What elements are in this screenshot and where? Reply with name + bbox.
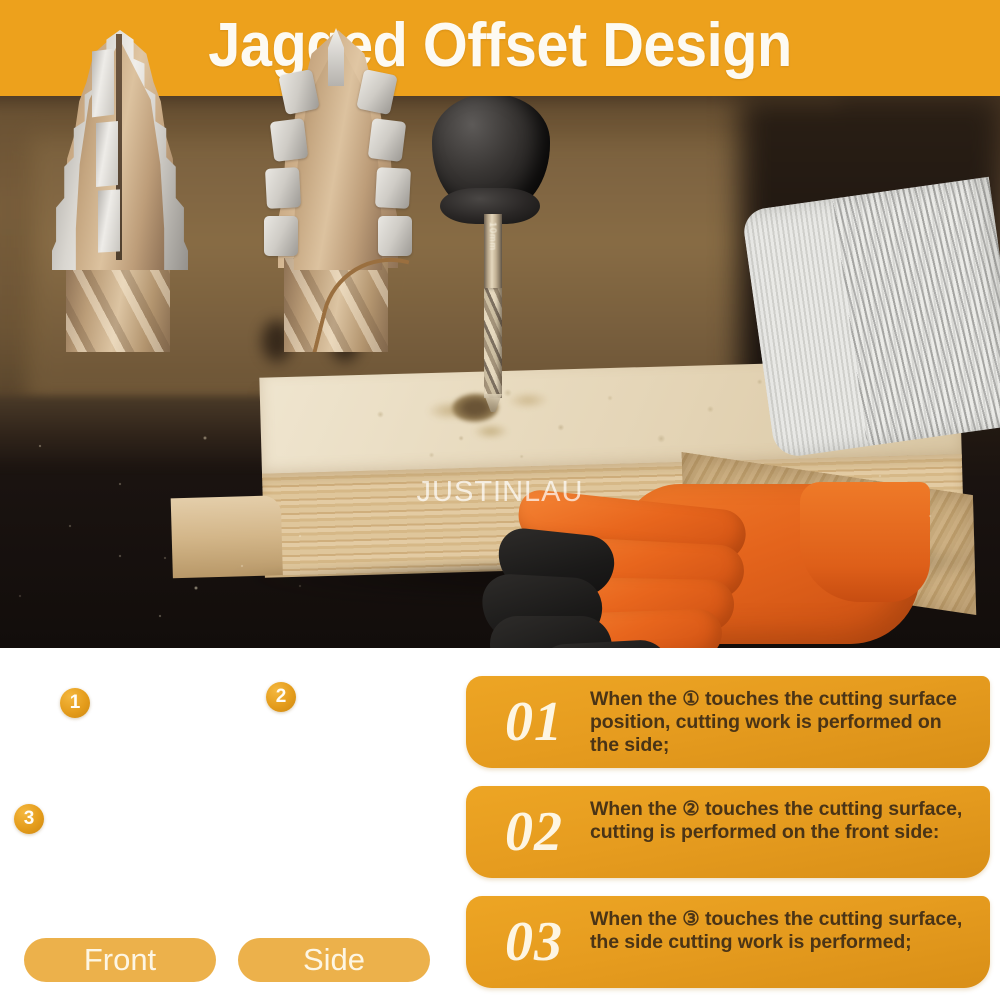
step-description: When the ① touches the cutting surface p…: [590, 688, 974, 757]
step-number: 02: [482, 794, 586, 870]
side-tooth: [270, 118, 309, 162]
wood-block-left-edge: [171, 495, 283, 578]
side-tooth: [278, 69, 320, 115]
step-panel-01: 01 When the ① touches the cutting surfac…: [466, 676, 990, 768]
side-tooth: [378, 216, 412, 256]
diagram-side-view: [228, 14, 448, 352]
badge-3: 3: [14, 804, 44, 834]
step-number: 03: [482, 904, 586, 980]
step-description: When the ② touches the cutting surface, …: [590, 798, 974, 844]
side-tooth: [356, 69, 398, 115]
badge-2: 2: [266, 682, 296, 712]
side-tooth: [265, 167, 301, 209]
bit-shank-spiral-front: [66, 258, 170, 352]
product-infographic: Jagged Offset Design: [0, 0, 1000, 1000]
carbide-cutting-edge: [96, 121, 118, 187]
glove-cuff: [741, 175, 1000, 469]
drill-bit-head-side: [262, 30, 414, 276]
drill-assembly: 10mm: [432, 96, 552, 406]
drill-bit-size-marking: 10mm: [487, 222, 499, 278]
step-description: When the ③ touches the cutting surface, …: [590, 908, 974, 954]
drill-bit-head-front: [44, 30, 196, 276]
work-glove: [500, 492, 920, 648]
diagram-front-view: [10, 14, 230, 352]
glove-wrist: [800, 482, 930, 602]
badge-1: 1: [60, 688, 90, 718]
drill-bit-flute: [484, 288, 502, 398]
side-tooth: [368, 118, 407, 162]
side-tooth: [375, 167, 411, 209]
view-label-front: Front: [24, 938, 216, 982]
step-panel-03: 03 When the ③ touches the cutting surfac…: [466, 896, 990, 988]
step-panel-02: 02 When the ② touches the cutting surfac…: [466, 786, 990, 878]
step-number: 01: [482, 684, 586, 760]
view-label-side: Side: [238, 938, 430, 982]
carbide-cutting-edge: [98, 189, 120, 252]
side-tooth: [264, 216, 298, 256]
carbide-cutting-edge: [92, 49, 114, 118]
